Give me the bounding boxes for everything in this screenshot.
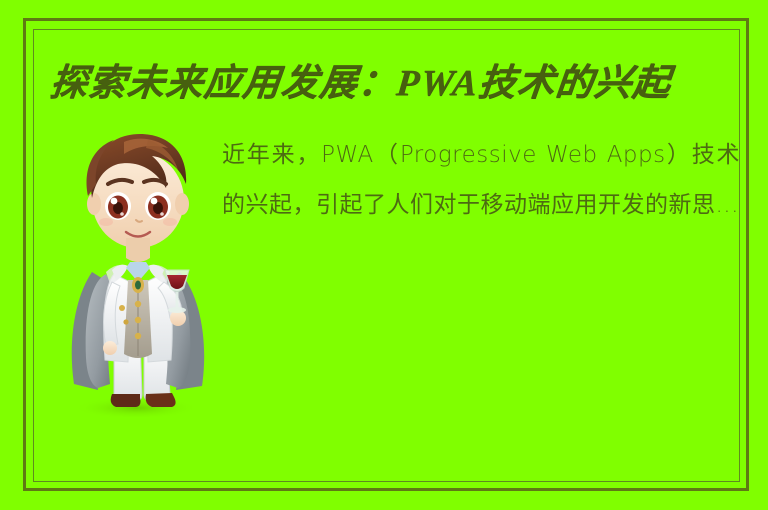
article-title: 探索未来应用发展：PWA技术的兴起: [47, 55, 723, 113]
article-card: 探索未来应用发展：PWA技术的兴起: [0, 0, 768, 510]
article-body: 近年来，PWA（Progressive Web Apps）技术的兴起，引起了人们…: [222, 130, 740, 230]
chibi-gentleman-icon: [52, 122, 218, 417]
character-illustration: [52, 122, 218, 417]
